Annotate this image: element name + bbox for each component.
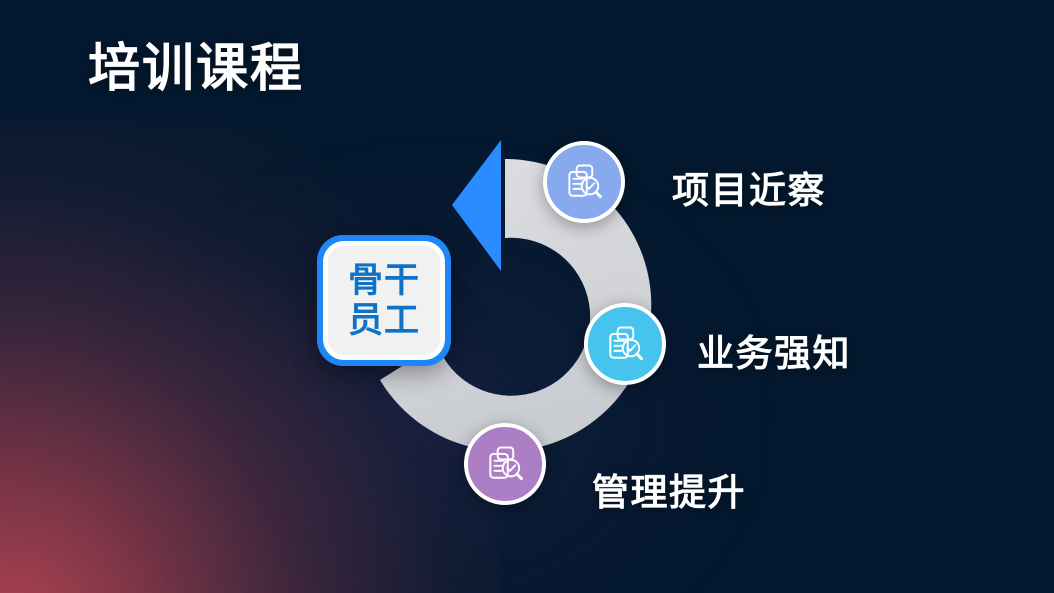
- cycle-node-label-2: 管理提升: [592, 462, 746, 516]
- cycle-node-label-0: 项目近察: [672, 160, 826, 214]
- center-label-line-2: 员工: [348, 301, 420, 340]
- center-label-line-1: 骨干: [348, 261, 420, 300]
- arrow-left-icon: [0, 0, 1054, 593]
- cycle-diagram: 骨干 员工 项目近察: [0, 0, 1054, 593]
- cycle-node-business-knowledge[interactable]: [584, 303, 666, 385]
- center-badge: 骨干 员工: [317, 235, 451, 366]
- slide-canvas: 培训课程 骨干 员工: [0, 0, 1054, 593]
- clipboard-search-check-icon: [603, 322, 647, 366]
- cycle-node-project-inspection[interactable]: [543, 141, 625, 223]
- cycle-node-label-1: 业务强知: [697, 323, 851, 377]
- cycle-node-management-improvement[interactable]: [464, 423, 546, 505]
- clipboard-search-check-icon: [483, 442, 527, 486]
- center-badge-inner: 骨干 员工: [323, 241, 445, 360]
- clipboard-search-check-icon: [562, 160, 606, 204]
